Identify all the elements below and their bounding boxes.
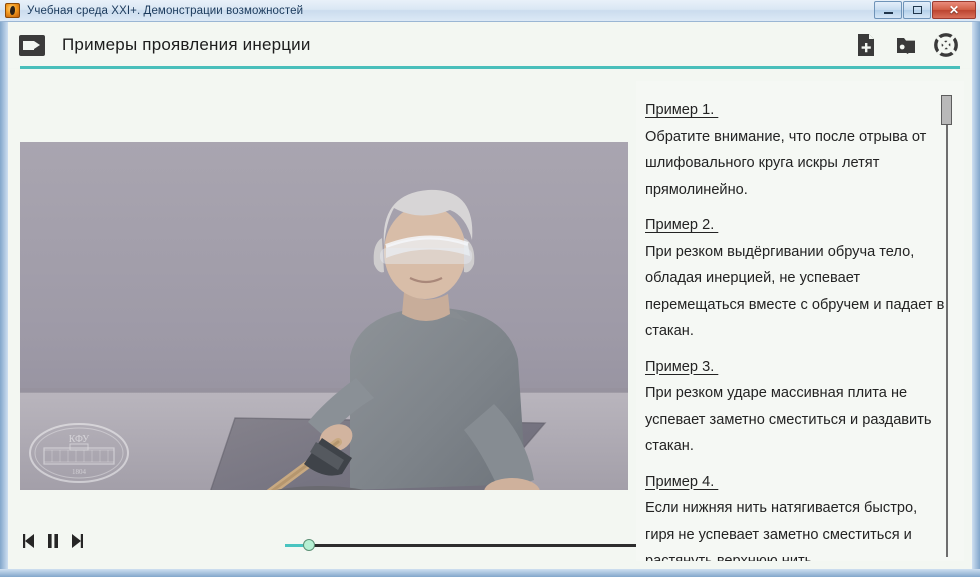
pause-button[interactable] <box>42 530 64 552</box>
example-block: Пример 4. Если нижняя нить натягивается … <box>645 469 945 562</box>
new-document-icon[interactable] <box>854 33 878 57</box>
app-logo-icon <box>5 3 20 18</box>
vertical-scrollbar[interactable] <box>941 95 952 557</box>
camera-lens-shape <box>34 41 40 49</box>
kfu-watermark: КФУ 1804 <box>28 422 130 484</box>
example-body: При резком выдёргивании обруча тело, обл… <box>645 239 945 345</box>
open-folder-search-icon[interactable] <box>894 33 918 57</box>
example-block: Пример 2. При резком выдёргивании обруча… <box>645 212 945 345</box>
minimize-icon <box>884 12 893 14</box>
title-bar[interactable]: Учебная среда XXI+. Демонстрации возможн… <box>0 0 980 22</box>
close-button[interactable]: ✕ <box>932 1 976 19</box>
example-block: Пример 3. При резком ударе массивная пли… <box>645 354 945 460</box>
pause-icon <box>42 530 64 552</box>
window-title: Учебная среда XXI+. Демонстрации возможн… <box>27 5 303 17</box>
maximize-button[interactable] <box>903 1 931 19</box>
window-border-left <box>0 22 8 577</box>
window-border-right <box>972 22 980 577</box>
help-lifering-icon[interactable] <box>934 33 958 57</box>
video-camera-icon <box>19 35 45 56</box>
content-area: КФУ 1804 <box>8 69 972 569</box>
description-panel: Пример 1. Обратите внимание, что после о… <box>636 81 964 561</box>
seek-slider[interactable] <box>285 539 640 551</box>
watermark-year: 1804 <box>72 468 87 476</box>
step-back-icon <box>20 530 42 552</box>
example-body: При резком ударе массивная плита не успе… <box>645 380 945 460</box>
page-title: Примеры проявления инерции <box>62 35 311 55</box>
minimize-button[interactable] <box>874 1 902 19</box>
example-heading: Пример 1. <box>645 97 945 124</box>
video-player[interactable]: КФУ 1804 <box>20 142 628 490</box>
example-heading: Пример 2. <box>645 212 945 239</box>
player-controls <box>20 527 628 555</box>
example-body: Если нижняя нить натягивается быстро, ги… <box>645 495 945 561</box>
close-icon: ✕ <box>933 2 975 18</box>
step-forward-button[interactable] <box>64 530 86 552</box>
step-back-button[interactable] <box>20 530 42 552</box>
header-actions <box>854 33 958 57</box>
watermark-letters: КФУ <box>69 434 90 445</box>
example-heading: Пример 3. <box>645 354 945 381</box>
maximize-icon <box>913 6 922 14</box>
window-border-bottom <box>0 569 980 577</box>
seek-track <box>309 544 640 547</box>
description-text: Пример 1. Обратите внимание, что после о… <box>645 97 945 561</box>
step-forward-icon <box>64 530 86 552</box>
example-heading: Пример 4. <box>645 469 945 496</box>
window-controls: ✕ <box>874 1 976 19</box>
seek-handle[interactable] <box>303 539 315 551</box>
application-window: Учебная среда XXI+. Демонстрации возможн… <box>0 0 980 577</box>
example-block: Пример 1. Обратите внимание, что после о… <box>645 97 945 203</box>
scrollbar-track <box>946 95 948 557</box>
example-body: Обратите внимание, что после отрыва от ш… <box>645 124 945 204</box>
page-header: Примеры проявления инерции <box>8 22 972 68</box>
scrollbar-thumb[interactable] <box>941 95 952 125</box>
camera-body-shape <box>23 41 34 50</box>
